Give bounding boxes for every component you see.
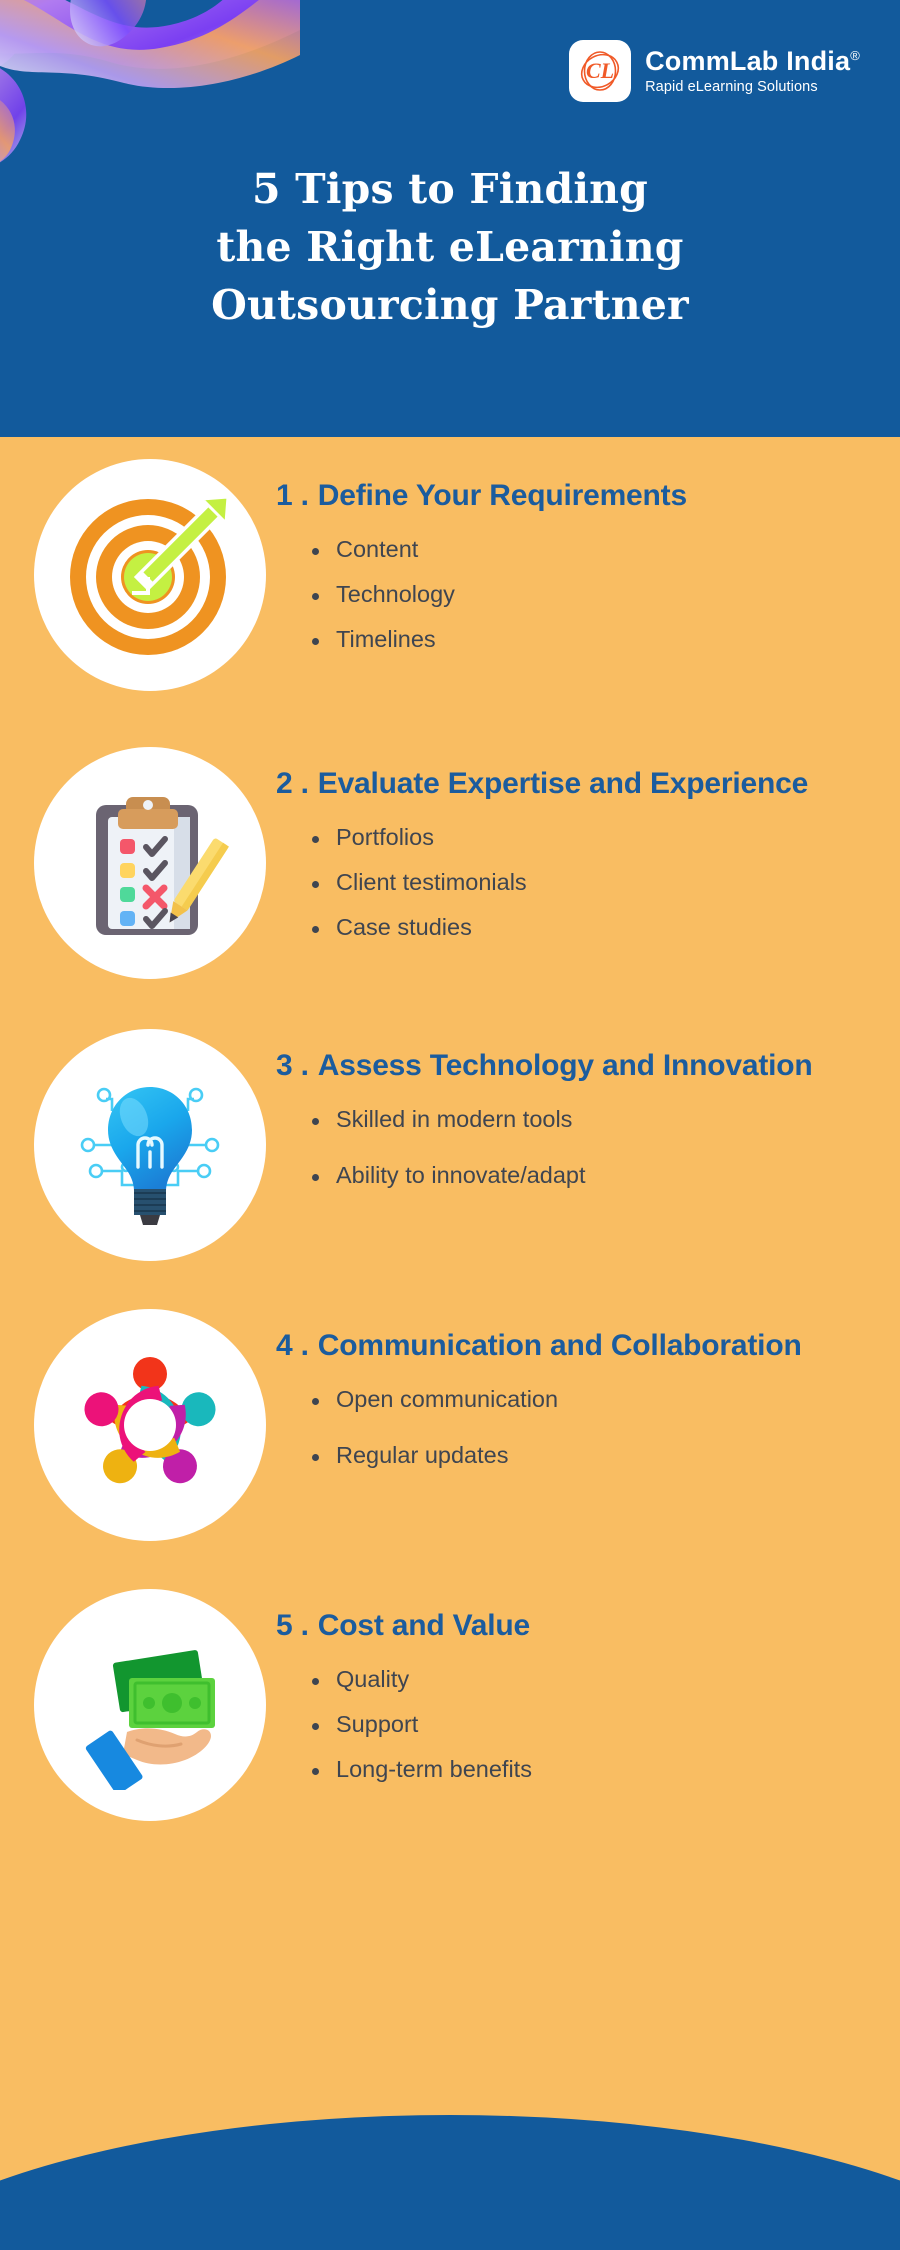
tip-3-title: Assess Technology and Innovation [318, 1047, 813, 1085]
list-item: Skilled in modern tools [312, 1101, 870, 1139]
tip-4-bullets: Open communication Regular updates [276, 1381, 870, 1474]
tip-2-bullets: Portfolios Client testimonials Case stud… [276, 819, 870, 946]
tip-3-bullets: Skilled in modern tools Ability to innov… [276, 1101, 870, 1194]
tip-5-heading: 5 . Cost and Value [276, 1607, 870, 1645]
registered-mark: ® [850, 48, 860, 63]
tip-1-heading: 1 . Define Your Requirements [276, 477, 870, 515]
tip-item-4: 4 . Communication and Collaboration Open… [0, 1309, 900, 1541]
headline-line-2: the Right eLearning [90, 218, 810, 276]
people-collaboration-icon [34, 1309, 266, 1541]
tip-2-number: 2 . [276, 765, 318, 803]
list-item: Client testimonials [312, 864, 870, 902]
clipboard-checklist-icon [34, 747, 266, 979]
hand-money-icon [34, 1589, 266, 1821]
tips-list: 1 . Define Your Requirements Content Tec… [0, 437, 900, 1821]
brand-tagline: Rapid eLearning Solutions [645, 79, 860, 95]
tip-2-heading: 2 . Evaluate Expertise and Experience [276, 765, 870, 803]
tip-4-number: 4 . [276, 1327, 318, 1365]
list-item: Regular updates [312, 1437, 870, 1475]
list-item: Long-term benefits [312, 1751, 870, 1789]
tip-5-bullets: Quality Support Long-term benefits [276, 1661, 870, 1788]
tip-4-title: Communication and Collaboration [318, 1327, 802, 1365]
tip-5-title: Cost and Value [318, 1607, 530, 1645]
brand-name: CommLab India® [645, 47, 860, 76]
footer-arc-shape [0, 2115, 900, 2250]
tip-4-heading: 4 . Communication and Collaboration [276, 1327, 870, 1365]
tip-2-body: 2 . Evaluate Expertise and Experience Po… [266, 747, 870, 946]
list-item: Quality [312, 1661, 870, 1699]
brand-logo[interactable]: CL CommLab India® Rapid eLearning Soluti… [569, 40, 860, 102]
list-item: Open communication [312, 1381, 870, 1419]
page-title: 5 Tips to Finding the Right eLearning Ou… [0, 160, 900, 335]
list-item: Case studies [312, 909, 870, 947]
footer-curve-decoration [0, 2060, 900, 2250]
list-item: Timelines [312, 621, 870, 659]
tip-4-body: 4 . Communication and Collaboration Open… [266, 1309, 870, 1475]
tip-1-title: Define Your Requirements [318, 477, 687, 515]
list-item: Content [312, 531, 870, 569]
lightbulb-circuit-icon [34, 1029, 266, 1261]
list-item: Ability to innovate/adapt [312, 1157, 870, 1195]
tip-item-5: 5 . Cost and Value Quality Support Long-… [0, 1589, 900, 1821]
tip-5-body: 5 . Cost and Value Quality Support Long-… [266, 1589, 870, 1788]
tip-item-2: 2 . Evaluate Expertise and Experience Po… [0, 747, 900, 979]
tip-2-title: Evaluate Expertise and Experience [318, 765, 808, 803]
list-item: Support [312, 1706, 870, 1744]
tip-1-number: 1 . [276, 477, 318, 515]
tip-3-number: 3 . [276, 1047, 318, 1085]
tip-5-number: 5 . [276, 1607, 318, 1645]
tip-1-bullets: Content Technology Timelines [276, 531, 870, 658]
decorative-swirl-graphic [0, 0, 300, 185]
headline-line-1: 5 Tips to Finding [90, 160, 810, 218]
target-arrow-icon [34, 459, 266, 691]
logo-mark-icon: CL [569, 40, 631, 102]
tip-item-1: 1 . Define Your Requirements Content Tec… [0, 459, 900, 691]
tip-3-heading: 3 . Assess Technology and Innovation [276, 1047, 870, 1085]
tip-3-body: 3 . Assess Technology and Innovation Ski… [266, 1029, 870, 1195]
svg-text:CL: CL [586, 58, 614, 83]
header-banner: CL CommLab India® Rapid eLearning Soluti… [0, 0, 900, 437]
list-item: Portfolios [312, 819, 870, 857]
tip-item-3: 3 . Assess Technology and Innovation Ski… [0, 1029, 900, 1261]
list-item: Technology [312, 576, 870, 614]
brand-name-text: CommLab India [645, 46, 850, 76]
headline-line-3: Outsourcing Partner [90, 276, 810, 334]
infographic-poster: CL CommLab India® Rapid eLearning Soluti… [0, 0, 900, 2250]
tip-1-body: 1 . Define Your Requirements Content Tec… [266, 459, 870, 658]
